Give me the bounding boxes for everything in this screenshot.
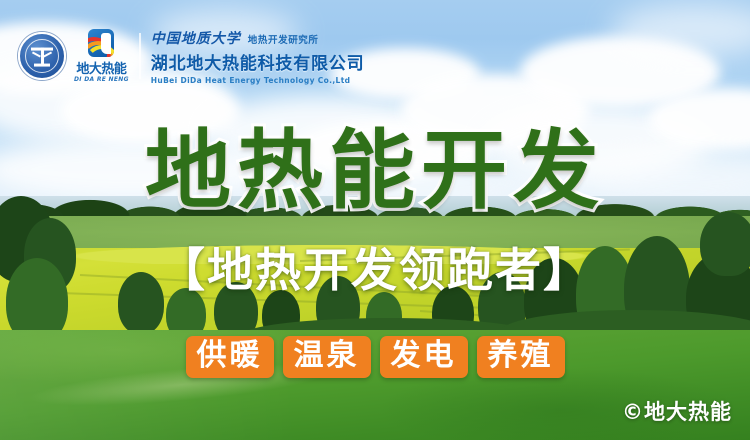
geothermal-banner: 地大热能 DI DA RE NENG 中国地质大学 地热开发研究所 湖北地大热能… (0, 0, 750, 440)
headline-subtitle: 【地热开发领跑者】 (0, 247, 750, 293)
service-badges: 供暖 温泉 发电 养殖 (0, 336, 750, 378)
copyright-watermark: ©地大热能 (622, 396, 732, 426)
badge-aquaculture[interactable]: 养殖 (477, 336, 565, 378)
university-name: 中国地质大学 (151, 28, 241, 48)
badge-heating[interactable]: 供暖 (186, 336, 274, 378)
company-name-cn: 湖北地大热能科技有限公司 (151, 49, 365, 74)
institute-name: 地热开发研究所 (248, 32, 319, 46)
badge-hot-spring[interactable]: 温泉 (283, 336, 371, 378)
university-seal-icon (18, 32, 66, 80)
header-divider (139, 33, 141, 79)
logo-name-cn: 地大热能 (76, 58, 126, 77)
logo-name-en: DI DA RE NENG (74, 76, 129, 83)
company-name-en: HuBei DiDa Heat Energy Technology Co.,Lt… (151, 76, 365, 85)
rainbow-tile-icon (88, 29, 114, 57)
seal-glyph (30, 45, 54, 67)
badge-power-generation[interactable]: 发电 (380, 336, 468, 378)
company-logo: 地大热能 DI DA RE NENG (74, 29, 129, 83)
organization-row: 中国地质大学 地热开发研究所 (151, 28, 365, 48)
headline-title: 地热能开发 (0, 128, 750, 214)
brand-header: 地大热能 DI DA RE NENG 中国地质大学 地热开发研究所 湖北地大热能… (0, 22, 364, 90)
organization-block: 中国地质大学 地热开发研究所 湖北地大热能科技有限公司 HuBei DiDa H… (151, 28, 365, 85)
